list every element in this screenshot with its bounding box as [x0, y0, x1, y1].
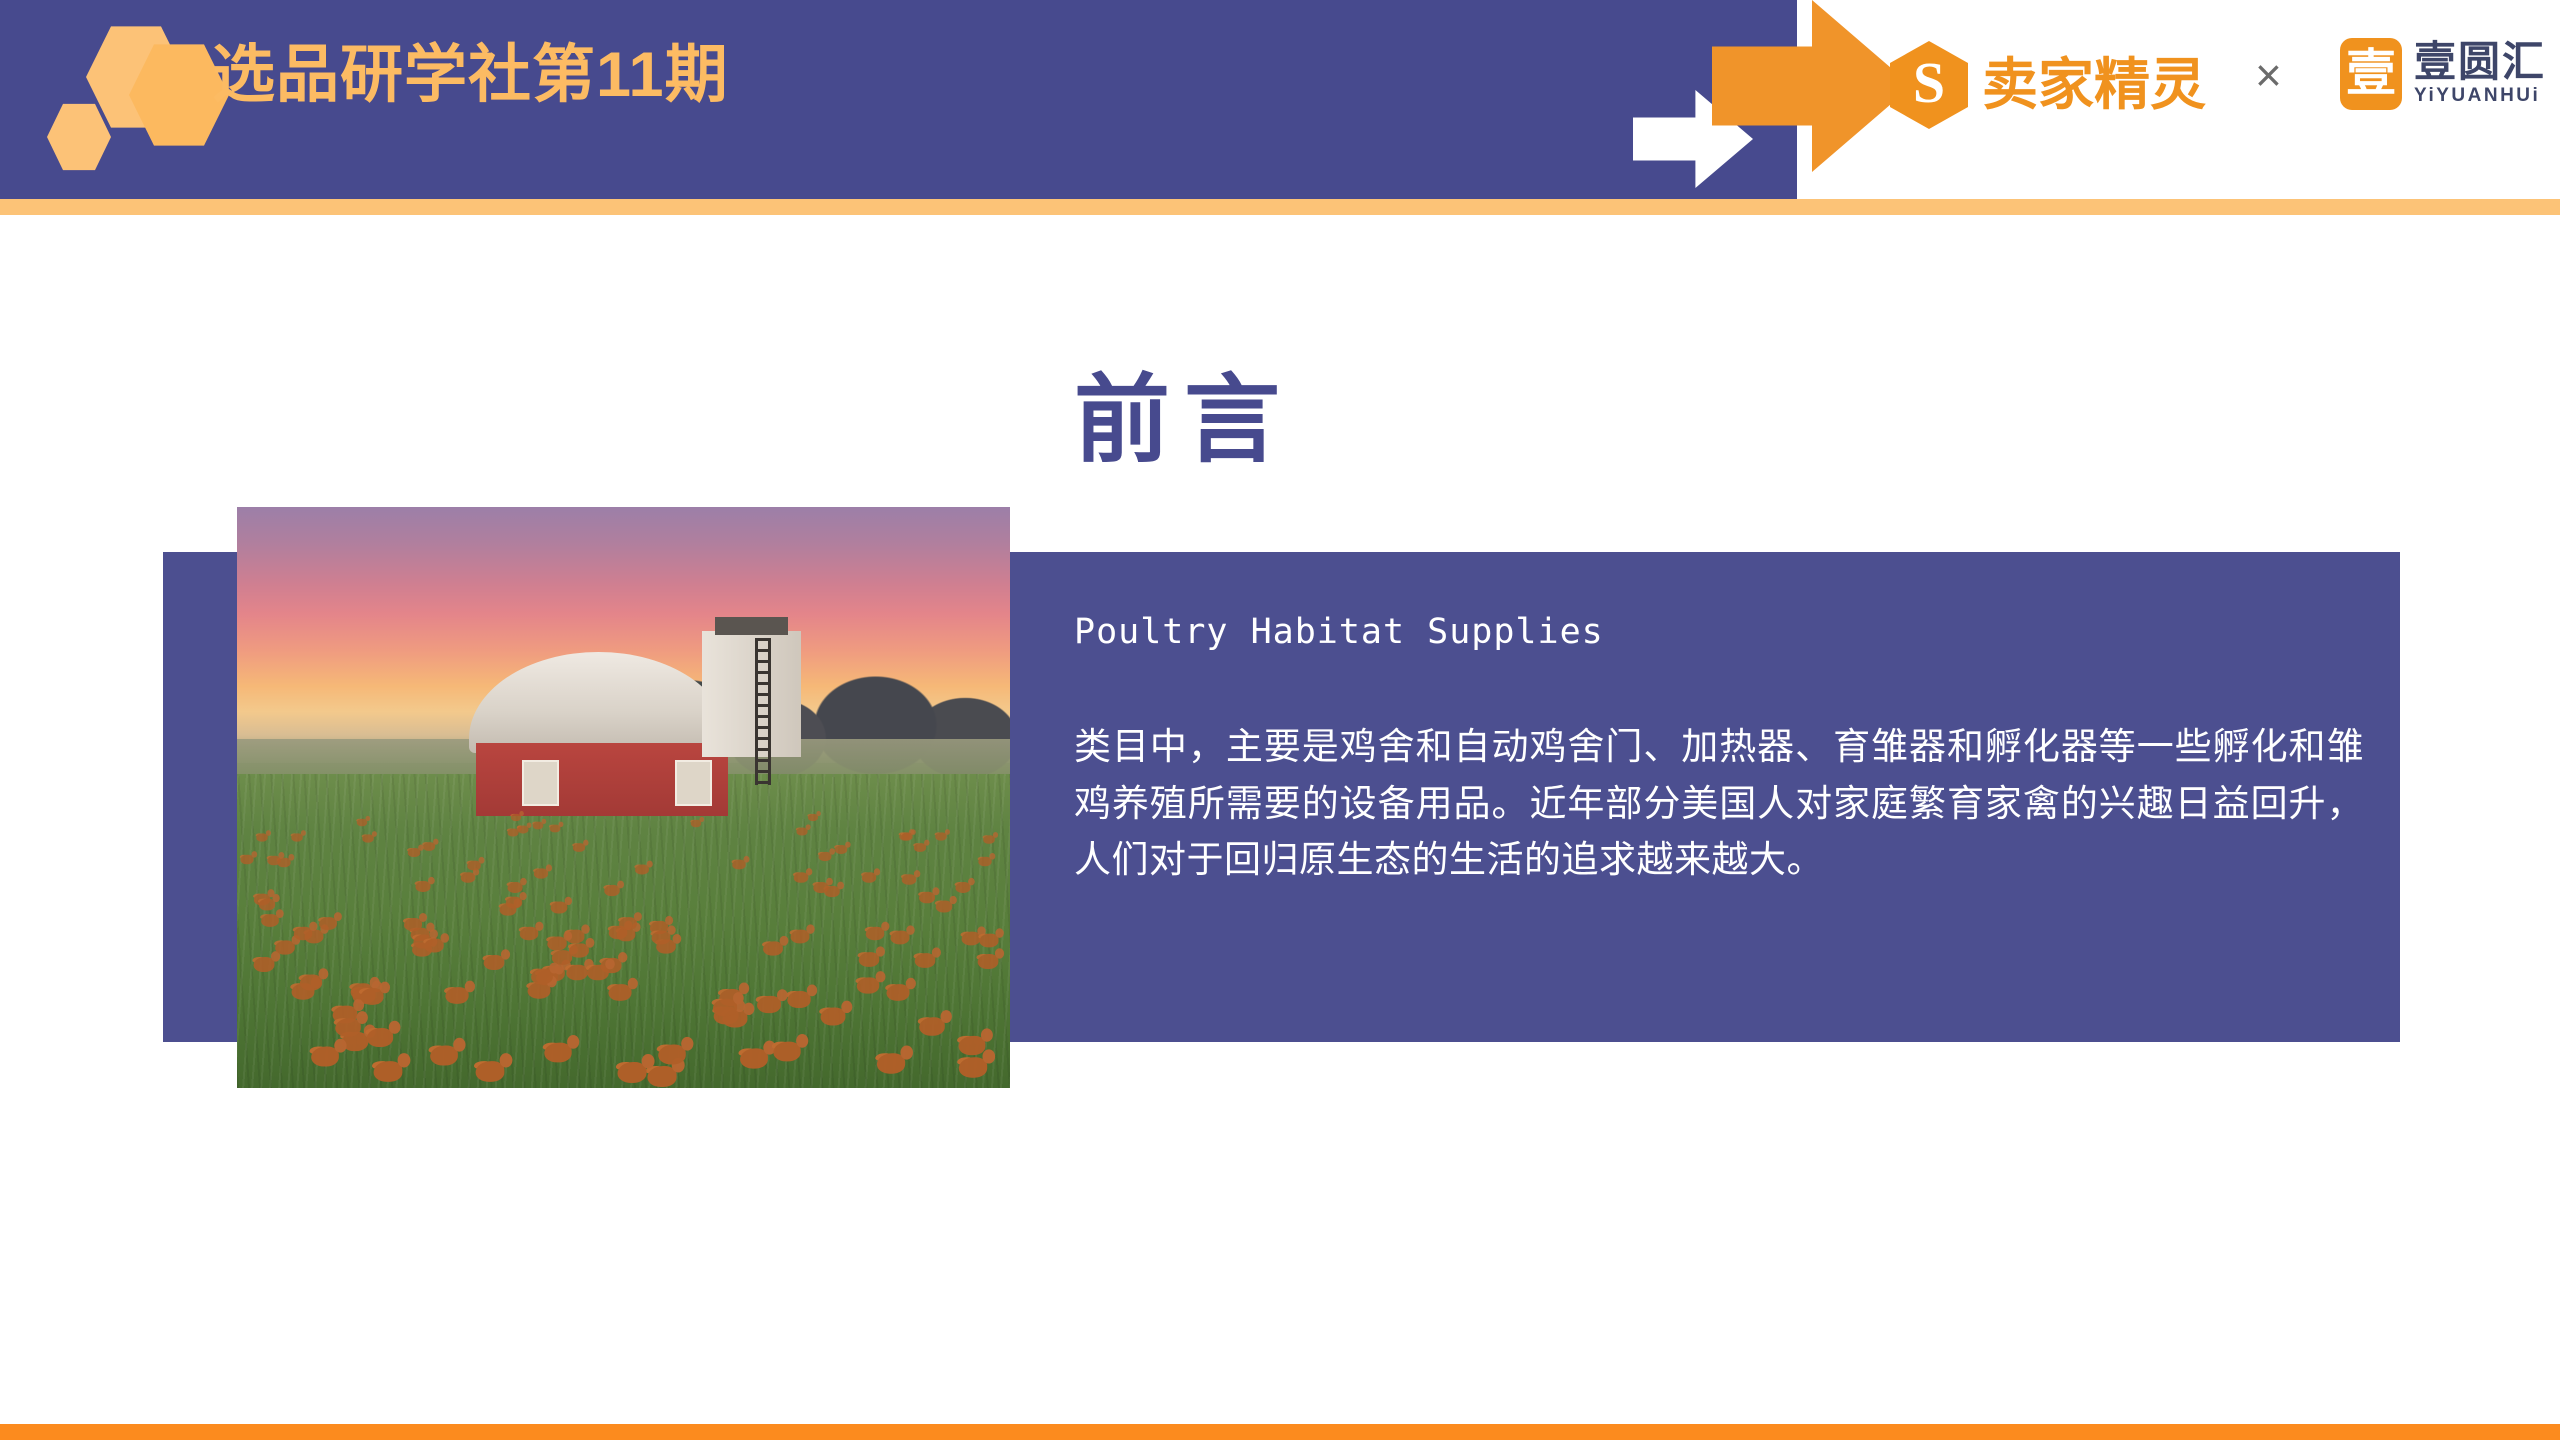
chicken-dot	[857, 978, 880, 994]
seller-sprite-logo[interactable]: S 卖家精灵	[1890, 40, 2206, 130]
chicken-dot	[604, 885, 619, 896]
chicken-dot	[404, 918, 422, 931]
chicken-dot	[528, 982, 551, 999]
chicken-dot	[267, 856, 280, 866]
slide-header: 选品研学社第11期 S 卖家精灵 × 壹 壹圆汇 YiYUANHUi	[0, 0, 2560, 199]
chicken-dot	[902, 874, 917, 885]
photo-chicken-flock	[237, 809, 1010, 1088]
chicken-dot	[835, 845, 847, 854]
chicken-dot	[740, 1048, 768, 1068]
chicken-dot	[691, 820, 701, 828]
chicken-dot	[363, 834, 375, 842]
footer-accent-bar	[0, 1424, 2560, 1440]
chicken-dot	[292, 834, 304, 842]
chicken-dot	[901, 832, 912, 840]
hexagon-shape-c	[47, 101, 111, 173]
body-text-block: Poultry Habitat Supplies 类目中，主要是鸡舍和自动鸡舍门…	[1074, 608, 2364, 889]
chicken-dot	[915, 953, 936, 968]
chicken-dot	[794, 873, 809, 884]
coop-door-left	[522, 760, 559, 805]
coop-silo	[702, 631, 802, 756]
hexagon-cluster-icon	[26, 8, 196, 188]
coop-ladder	[755, 638, 772, 784]
chicken-dot	[978, 954, 999, 969]
seller-sprite-mark-icon: S	[1890, 41, 1968, 129]
header-accent-bar	[0, 199, 2560, 215]
chicken-dot	[517, 825, 528, 833]
chicken-dot	[635, 864, 649, 874]
chicken-dot	[891, 931, 910, 945]
chicken-dot	[483, 955, 504, 970]
chicken-dot	[935, 833, 947, 841]
chicken-dot	[361, 988, 384, 1005]
chicken-dot	[617, 1062, 646, 1083]
yiyuanhui-name-cn: 壹圆汇	[2414, 40, 2546, 84]
body-paragraph: 类目中，主要是鸡舍和自动鸡舍门、加热器、育雏器和孵化器等一些孵化和雏鸡养殖所需要…	[1074, 719, 2364, 889]
chicken-dot	[511, 814, 521, 821]
chicken-dot	[261, 914, 279, 927]
chicken-dot	[648, 1065, 677, 1086]
chicken-dot	[258, 898, 274, 910]
chicken-dot	[367, 1028, 393, 1047]
chicken-dot	[919, 1017, 945, 1035]
chicken-dot	[609, 985, 632, 1002]
chicken-dot	[732, 860, 746, 870]
chicken-dot	[757, 996, 781, 1013]
chicken-dot	[619, 917, 637, 930]
chicken-dot	[935, 900, 952, 912]
chicken-coop-pasture-photo	[237, 507, 1010, 1088]
chicken-dot	[862, 872, 876, 882]
chicken-dot	[886, 984, 909, 1001]
chicken-dot	[475, 1061, 504, 1082]
chicken-dot	[240, 855, 253, 864]
page-title: 前言	[1074, 371, 1294, 472]
chicken-dot	[865, 926, 884, 939]
chicken-dot	[357, 818, 367, 826]
chicken-dot	[820, 1008, 845, 1026]
chicken-dot	[416, 881, 431, 892]
chicken-dot	[658, 1045, 686, 1065]
chicken-dot	[587, 965, 609, 981]
chicken-dot	[791, 930, 810, 944]
coop-door-right	[675, 760, 712, 805]
chicken-dot	[408, 847, 421, 856]
chicken-dot	[959, 1057, 987, 1078]
chicken-dot	[914, 843, 926, 852]
chicken-dot	[508, 882, 523, 893]
chicken-dot	[336, 1018, 362, 1036]
chicken-dot	[506, 896, 522, 908]
photo-chicken-coop	[469, 652, 801, 826]
chicken-dot	[520, 927, 539, 940]
chicken-dot	[445, 987, 468, 1004]
chicken-dot	[300, 975, 322, 991]
chicken-dot	[319, 917, 337, 930]
chicken-dot	[532, 821, 543, 829]
chicken-dot	[550, 902, 567, 914]
chicken-dot	[534, 868, 548, 878]
chicken-dot	[859, 952, 880, 967]
chicken-dot	[979, 934, 998, 948]
chicken-dot	[532, 968, 554, 984]
coop-roof	[469, 652, 728, 753]
chicken-dot	[544, 1043, 571, 1063]
chicken-dot	[763, 942, 783, 956]
chicken-dot	[430, 1046, 458, 1066]
yiyuanhui-mark-char: 壹	[2346, 48, 2396, 98]
chicken-dot	[978, 856, 991, 866]
chicken-dot	[275, 941, 295, 955]
seller-sprite-mark-letter: S	[1913, 54, 1945, 112]
chicken-dot	[573, 844, 585, 853]
chicken-dot	[467, 861, 481, 871]
chicken-dot	[423, 842, 435, 851]
cross-symbol: ×	[2255, 52, 2282, 98]
header-title: 选品研学社第11期	[212, 44, 729, 107]
chicken-dot	[256, 833, 268, 841]
chicken-dot	[787, 991, 810, 1008]
chicken-dot	[550, 824, 561, 832]
chicken-dot	[713, 999, 737, 1016]
chicken-dot	[959, 1036, 986, 1055]
seller-sprite-name: 卖家精灵	[1982, 57, 2206, 113]
yiyuanhui-name-en: YiYUANHUi	[2414, 85, 2546, 108]
chicken-dot	[808, 814, 818, 821]
chicken-dot	[293, 927, 312, 940]
chicken-dot	[373, 1061, 402, 1082]
chicken-dot	[254, 957, 275, 972]
chicken-dot	[651, 931, 670, 945]
chicken-dot	[919, 892, 935, 904]
chicken-dot	[311, 1047, 339, 1067]
english-subtitle: Poultry Habitat Supplies	[1074, 608, 2364, 657]
chicken-dot	[461, 872, 475, 882]
coop-silo-top	[715, 617, 788, 634]
yiyuanhui-text-block: 壹圆汇 YiYUANHUi	[2414, 40, 2546, 108]
chicken-dot	[569, 943, 589, 957]
chicken-dot	[962, 932, 981, 946]
chicken-dot	[547, 937, 566, 951]
chicken-dot	[774, 1042, 801, 1062]
chicken-dot	[956, 882, 971, 893]
chicken-dot	[424, 938, 443, 952]
chicken-dot	[983, 835, 995, 843]
chicken-dot	[819, 852, 832, 861]
chicken-dot	[877, 1054, 905, 1074]
chicken-dot	[796, 828, 807, 836]
yiyuanhui-mark-icon: 壹	[2340, 38, 2402, 110]
chicken-dot	[566, 965, 587, 980]
yiyuanhui-logo[interactable]: 壹 壹圆汇 YiYUANHUi	[2340, 38, 2546, 110]
